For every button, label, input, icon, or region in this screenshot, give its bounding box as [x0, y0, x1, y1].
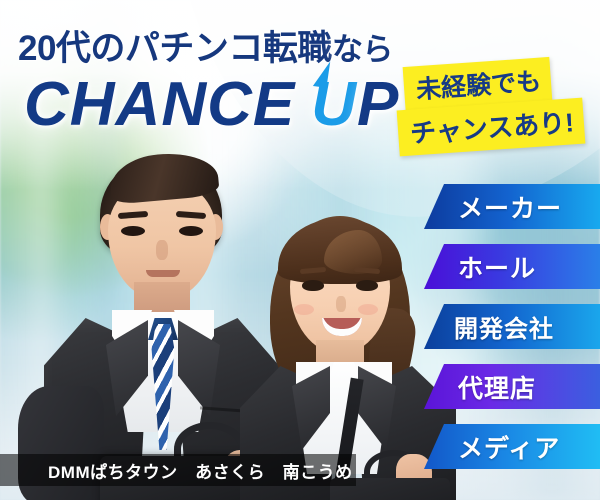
headline-suffix: なら [332, 32, 393, 67]
male-mouth [146, 270, 180, 277]
female-eye-right [356, 280, 378, 291]
category-button-agency[interactable]: 代理店 [424, 364, 600, 409]
category-button-media[interactable]: メディア [424, 424, 600, 469]
male-eye-left [121, 226, 145, 236]
category-button-hall[interactable]: ホール [424, 244, 600, 289]
female-cheek-left [294, 304, 314, 315]
logo-letter-p: P [357, 70, 399, 139]
female-cheek-right [358, 304, 378, 315]
male-eye-right [179, 226, 203, 236]
female-eye-left [302, 280, 324, 291]
headline-main: 20代のパチンコ転職 [18, 29, 332, 68]
category-label-hall: ホール [424, 249, 536, 285]
category-label-development-company: 開発会社 [424, 309, 554, 344]
male-nose [156, 240, 168, 260]
logo-word-chance: CHANCE [24, 70, 295, 139]
female-nose [336, 296, 346, 312]
advertisement-banner[interactable]: 20代のパチンコ転職なら CHANCEUP 未経験でも チャンスあり! メーカー… [0, 0, 600, 500]
female-bangs [278, 218, 402, 284]
category-label-agency: 代理店 [424, 369, 536, 405]
category-label-media: メディア [424, 429, 560, 465]
credit-text: DMMぱちタウン あさくら 南こうめ [0, 458, 353, 483]
credit-bar: DMMぱちタウン あさくら 南こうめ [0, 454, 356, 486]
brand-logo: CHANCEUP [24, 74, 399, 136]
headline: 20代のパチンコ転職なら [18, 20, 393, 71]
logo-word-up: UP [311, 74, 399, 136]
category-button-development-company[interactable]: 開発会社 [424, 304, 600, 349]
category-button-maker[interactable]: メーカー [424, 184, 600, 229]
category-label-maker: メーカー [424, 189, 562, 225]
